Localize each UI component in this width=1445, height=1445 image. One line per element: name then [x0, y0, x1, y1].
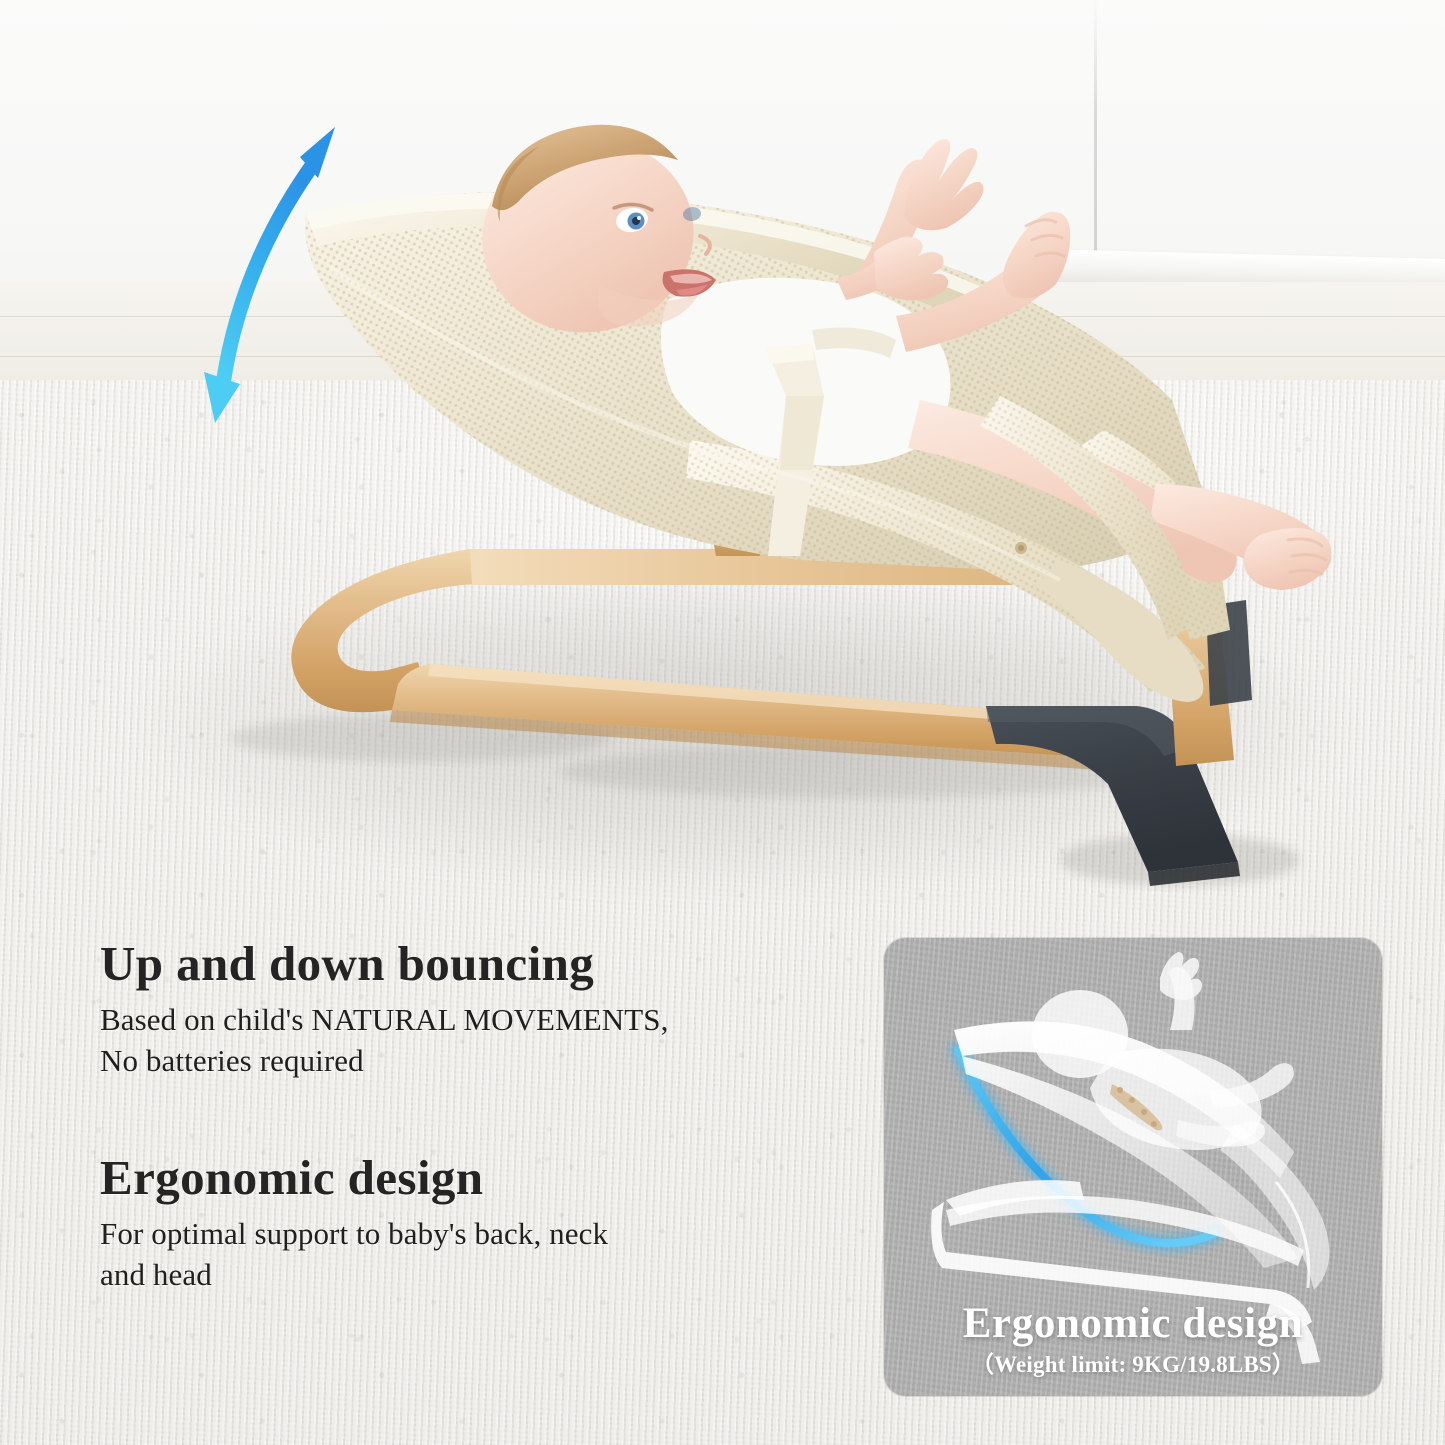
inset-caption-note: （Weight limit: 9KG/19.8LBS） — [884, 1349, 1382, 1380]
inset-caption-title: Ergonomic design — [884, 1301, 1382, 1346]
feature-heading-1: Up and down bouncing — [100, 938, 669, 990]
feature-heading-2: Ergonomic design — [100, 1152, 608, 1204]
product-feature-image: Up and down bouncing Based on child's NA… — [0, 0, 1445, 1445]
ergonomic-inset-panel: Ergonomic design （Weight limit: 9KG/19.8… — [884, 938, 1382, 1396]
feature-block-bouncing: Up and down bouncing Based on child's NA… — [100, 938, 669, 1081]
inset-caption: Ergonomic design （Weight limit: 9KG/19.8… — [884, 1301, 1382, 1380]
feature-body-1: Based on child's NATURAL MOVEMENTS, No b… — [100, 999, 669, 1081]
bouncer-floor-shadow — [140, 560, 1340, 890]
feature-body-2: For optimal support to baby's back, neck… — [100, 1213, 608, 1295]
feature-block-ergonomic: Ergonomic design For optimal support to … — [100, 1152, 608, 1295]
